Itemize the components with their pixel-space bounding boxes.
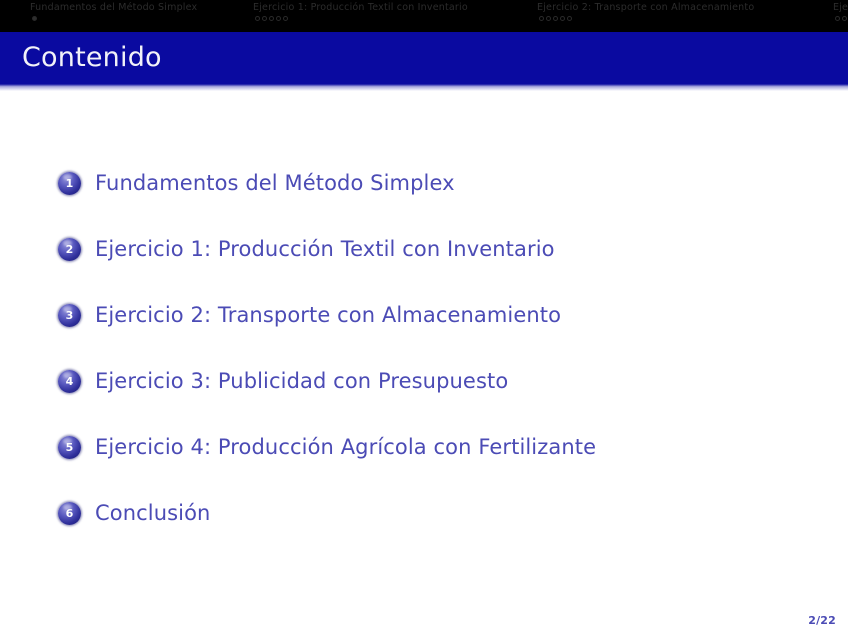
nav-dot[interactable] <box>539 16 544 21</box>
toc-item-1[interactable]: 1 Fundamentos del Método Simplex <box>0 150 848 216</box>
nav-section-title: Ejercicio 2: Transporte con Almacenamien… <box>537 2 754 14</box>
toc-item-number: 3 <box>66 310 74 321</box>
toc-item-label: Ejercicio 1: Producción Textil con Inven… <box>95 236 555 262</box>
nav-dot[interactable] <box>842 16 847 21</box>
toc-item-5[interactable]: 5 Ejercicio 4: Producción Agrícola con F… <box>0 414 848 480</box>
toc-item-label: Fundamentos del Método Simplex <box>95 170 455 196</box>
title-banner-fade <box>0 84 848 91</box>
nav-dot[interactable] <box>32 16 37 21</box>
nav-dot[interactable] <box>560 16 565 21</box>
nav-dot[interactable] <box>269 16 274 21</box>
toc-bullet-icon: 4 <box>58 370 81 393</box>
toc-item-3[interactable]: 3 Ejercicio 2: Transporte con Almacenami… <box>0 282 848 348</box>
toc-item-label: Ejercicio 2: Transporte con Almacenamien… <box>95 302 561 328</box>
toc-bullet-icon: 2 <box>58 238 81 261</box>
nav-dot[interactable] <box>255 16 260 21</box>
nav-dot[interactable] <box>262 16 267 21</box>
navigation-bar: Fundamentos del Método Simplex Ejercicio… <box>0 0 848 32</box>
toc-item-number: 2 <box>66 244 74 255</box>
nav-section-title: Ejercicio 1: Producción Textil con Inven… <box>253 2 468 14</box>
nav-dot[interactable] <box>835 16 840 21</box>
page-number: 2/22 <box>808 614 836 627</box>
toc-item-number: 6 <box>66 508 74 519</box>
nav-section-title: Ejerc <box>833 2 848 14</box>
toc-item-number: 4 <box>66 376 74 387</box>
toc-bullet-icon: 3 <box>58 304 81 327</box>
nav-section-dots[interactable] <box>253 16 288 21</box>
nav-dot[interactable] <box>283 16 288 21</box>
toc-item-number: 5 <box>66 442 74 453</box>
nav-section-dots[interactable] <box>30 16 37 21</box>
toc-item-label: Conclusión <box>95 500 210 526</box>
page-title: Contenido <box>22 41 162 75</box>
nav-section-dots[interactable] <box>833 16 848 21</box>
toc-item-6[interactable]: 6 Conclusión <box>0 480 848 546</box>
nav-section-title: Fundamentos del Método Simplex <box>30 2 197 14</box>
nav-section-4[interactable]: Ejerc <box>829 0 848 21</box>
nav-dot[interactable] <box>546 16 551 21</box>
toc-bullet-icon: 6 <box>58 502 81 525</box>
toc-bullet-icon: 5 <box>58 436 81 459</box>
nav-section-1[interactable]: Fundamentos del Método Simplex <box>0 0 247 21</box>
nav-dot[interactable] <box>553 16 558 21</box>
toc-item-2[interactable]: 2 Ejercicio 1: Producción Textil con Inv… <box>0 216 848 282</box>
nav-dot[interactable] <box>567 16 572 21</box>
toc-item-label: Ejercicio 3: Publicidad con Presupuesto <box>95 368 508 394</box>
nav-section-3[interactable]: Ejercicio 2: Transporte con Almacenamien… <box>533 0 829 21</box>
nav-section-2[interactable]: Ejercicio 1: Producción Textil con Inven… <box>247 0 533 21</box>
table-of-contents: 1 Fundamentos del Método Simplex 2 Ejerc… <box>0 150 848 546</box>
toc-bullet-icon: 1 <box>58 172 81 195</box>
toc-item-4[interactable]: 4 Ejercicio 3: Publicidad con Presupuest… <box>0 348 848 414</box>
nav-dot[interactable] <box>276 16 281 21</box>
nav-section-dots[interactable] <box>537 16 572 21</box>
toc-item-number: 1 <box>66 178 74 189</box>
toc-item-label: Ejercicio 4: Producción Agrícola con Fer… <box>95 434 596 460</box>
